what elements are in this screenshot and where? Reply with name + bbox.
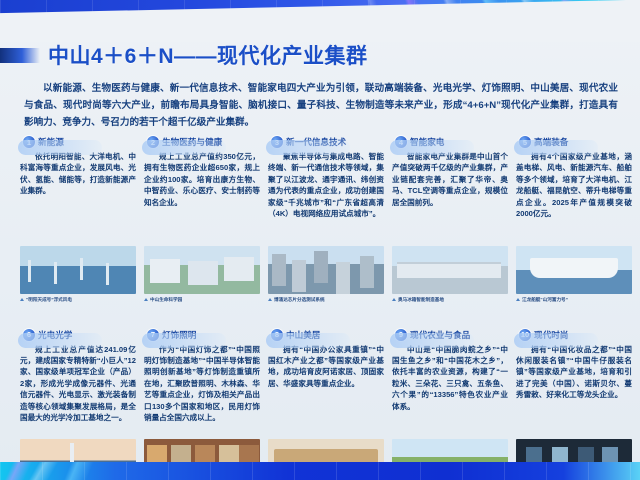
card-caption: 博涌达芯片分选测试系统: [268, 297, 384, 303]
industry-card-7[interactable]: 7 灯饰照明 作为“中国灯饰之都”“中国照明灯饰制造基地”“中国半导体智能照明创…: [144, 329, 260, 480]
header-pill: [142, 140, 226, 155]
card-header: 6 光电光学: [20, 329, 136, 341]
title-accent-bar: [0, 48, 40, 63]
poster-page: 中山4＋6＋N——现代化产业集群 以新能源、生物医药与健康、新一代信息技术、智能…: [0, 0, 640, 480]
card-body-text: 依托明阳智能、大洋电机、中科富海等重点企业，发展风电、光伏、氢能、储能等，打造新…: [20, 151, 136, 243]
card-thumbnail[interactable]: [392, 246, 508, 294]
header-pill: [390, 140, 474, 155]
card-body-text: 作为“中国灯饰之都”“中国照明灯饰制造基地”“中国半导体智能照明创新基地”等灯饰…: [144, 344, 260, 436]
industry-card-8[interactable]: 8 中山美居 拥有“中国办公家具重镇”“中国红木产业之都”等国家级产业基地，成功…: [268, 329, 384, 480]
card-body-text: 规上工业总产值约350亿元，拥有生物医药企业超650家，规上企业约100家。培育…: [144, 151, 260, 243]
caption-marker-icon: [268, 298, 272, 301]
caption-text: 博涌达芯片分选测试系统: [274, 297, 325, 303]
caption-marker-icon: [20, 298, 24, 301]
card-body-text: 聚焦半导体与集成电路、智能终端、新一代通信技术等领域，集聚了以江波龙、通宇通讯、…: [268, 151, 384, 243]
industry-card-3[interactable]: 3 新一代信息技术 聚焦半导体与集成电路、智能终端、新一代通信技术等领域，集聚了…: [268, 136, 384, 303]
header-pill: [514, 140, 598, 155]
industry-card-10[interactable]: 10 现代时尚 拥有“中国化妆品之都”“中国休闲服装名镇”“中国牛仔服装名镇”等…: [516, 329, 632, 480]
title-area: 中山4＋6＋N——现代化产业集群: [0, 40, 640, 74]
bottom-banner: [0, 462, 640, 480]
card-thumbnail[interactable]: [144, 246, 260, 294]
bottom-light-rays: [0, 462, 640, 480]
card-caption: 中山生命科学园: [144, 297, 260, 303]
page-title: 中山4＋6＋N——现代化产业集群: [48, 40, 368, 70]
card-body-text: 拥有“中国办公家具重镇”“中国红木产业之都”等国家级产业基地，成功培育皮阿诺家居…: [268, 344, 384, 436]
caption-marker-icon: [516, 298, 520, 301]
card-header: 10 现代时尚: [516, 329, 632, 341]
industry-card-grid: 1 新能源 依托明阳智能、大洋电机、中科富海等重点企业，发展风电、光伏、氢能、储…: [20, 136, 620, 480]
card-header: 9 现代农业与食品: [392, 329, 508, 341]
industry-card-9[interactable]: 9 现代农业与食品 中山是“中国脆肉鲩之乡”“中国生鱼之乡”和“中国花木之乡”，…: [392, 329, 508, 480]
card-body-text: 规上工业总产值达241.09亿元，建成国家专精特新“小巨人”12家、国家级单项冠…: [20, 344, 136, 436]
card-header: 1 新能源: [20, 136, 136, 148]
card-header: 7 灯饰照明: [144, 329, 260, 341]
caption-text: 奥马冰箱智能制造基地: [398, 297, 444, 303]
card-caption: 奥马冰箱智能制造基地: [392, 297, 508, 303]
card-thumbnail[interactable]: [268, 246, 384, 294]
header-pill: [142, 333, 226, 348]
industry-card-2[interactable]: 2 生物医药与健康 规上工业总产值约350亿元，拥有生物医药企业超650家，规上…: [144, 136, 260, 303]
industry-card-6[interactable]: 6 光电光学 规上工业总产值达241.09亿元，建成国家专精特新“小巨人”12家…: [20, 329, 136, 480]
industry-card-5[interactable]: 5 高端装备 拥有4个国家级产业基地，涵盖电梯、风电、新能源汽车、船舶等多个领域…: [516, 136, 632, 303]
card-header: 5 高端装备: [516, 136, 632, 148]
header-pill: [390, 333, 474, 348]
card-caption: “明阳天成号”浮式风电: [20, 297, 136, 303]
card-header: 4 智能家电: [392, 136, 508, 148]
caption-text: 中山生命科学园: [150, 297, 182, 303]
header-pill: [266, 140, 350, 155]
card-body-text: 中山是“中国脆肉鲩之乡”“中国生鱼之乡”和“中国花木之乡”，依托丰富的农业资源，…: [392, 344, 508, 436]
card-row-2: 6 光电光学 规上工业总产值达241.09亿元，建成国家专精特新“小巨人”12家…: [20, 329, 620, 480]
card-header: 2 生物医药与健康: [144, 136, 260, 148]
top-banner: [0, 0, 640, 42]
card-body-text: 拥有“中国化妆品之都”“中国休闲服装名镇”“中国牛仔服装名镇”等国家级产业基地，…: [516, 344, 632, 436]
industry-card-4[interactable]: 4 智能家电 智能家电产业集群是中山首个产值突破两千亿级的产业集群，产业链配套完…: [392, 136, 508, 303]
caption-text: “明阳天成号”浮式风电: [26, 297, 72, 303]
header-pill: [514, 333, 598, 348]
intro-paragraph: 以新能源、生物医药与健康、新一代信息技术、智能家电四大产业为引领，联动高端装备、…: [24, 80, 618, 131]
card-row-1: 1 新能源 依托明阳智能、大洋电机、中科富海等重点企业，发展风电、光伏、氢能、储…: [20, 136, 620, 303]
caption-text: 江龙船艇“山河富力号”: [522, 297, 568, 303]
card-thumbnail[interactable]: [516, 246, 632, 294]
card-body-text: 拥有4个国家级产业基地，涵盖电梯、风电、新能源汽车、船舶等多个领域，培育了大洋电…: [516, 151, 632, 243]
card-thumbnail[interactable]: [20, 246, 136, 294]
industry-card-1[interactable]: 1 新能源 依托明阳智能、大洋电机、中科富海等重点企业，发展风电、光伏、氢能、储…: [20, 136, 136, 303]
card-caption: 江龙船艇“山河富力号”: [516, 297, 632, 303]
header-pill: [18, 140, 102, 155]
header-pill: [18, 333, 102, 348]
caption-marker-icon: [392, 298, 396, 301]
card-header: 8 中山美居: [268, 329, 384, 341]
header-pill: [266, 333, 350, 348]
card-body-text: 智能家电产业集群是中山首个产值突破两千亿级的产业集群，产业链配套完善，汇聚了华帝…: [392, 151, 508, 243]
card-header: 3 新一代信息技术: [268, 136, 384, 148]
caption-marker-icon: [144, 298, 148, 301]
